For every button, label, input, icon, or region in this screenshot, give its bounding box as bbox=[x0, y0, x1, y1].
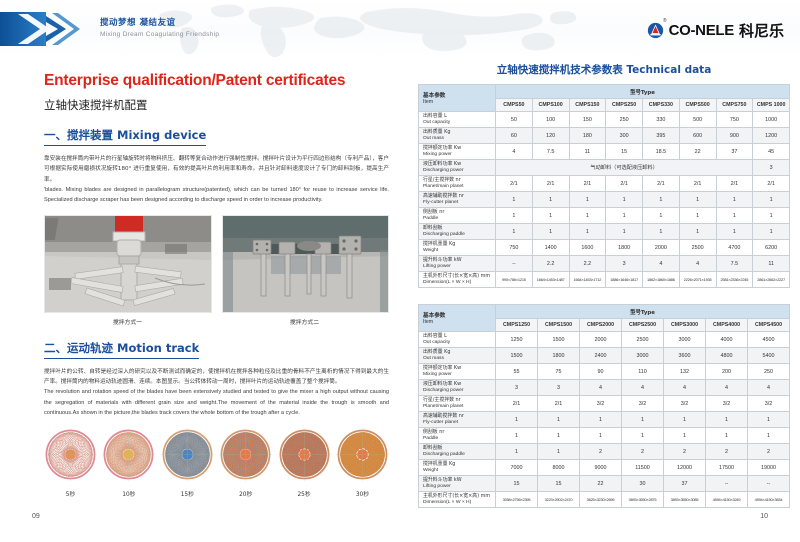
model-header: CMPS4000 bbox=[706, 319, 748, 332]
model-header: CMPS 1000 bbox=[753, 99, 790, 112]
table-cell: 15 bbox=[496, 476, 538, 492]
table-cell: 1 bbox=[569, 192, 606, 208]
model-header: CMPS750 bbox=[716, 99, 753, 112]
table-cell: 2400 bbox=[580, 348, 622, 364]
table-cell: 1000 bbox=[753, 112, 790, 128]
table-header-row: 基本参数Item型号Type bbox=[419, 85, 790, 99]
table-cell: 750 bbox=[496, 240, 533, 256]
table-cell: 1 bbox=[679, 224, 716, 240]
table-cell: 1 bbox=[569, 224, 606, 240]
table-cell: 1 bbox=[643, 224, 680, 240]
table-cell: 2/1 bbox=[643, 176, 680, 192]
table-cell: 4 bbox=[580, 380, 622, 396]
table-cell: 5400 bbox=[748, 348, 790, 364]
table-cell: 1 bbox=[532, 208, 569, 224]
table-cell: 1 bbox=[643, 192, 680, 208]
model-header: CMPS500 bbox=[679, 99, 716, 112]
table2-head: 基本参数Item型号TypeCMPS1250CMPS1500CMPS2000CM… bbox=[419, 305, 790, 332]
table2-body: 出料容量 LOut capacity1250150020002500300040… bbox=[419, 332, 790, 508]
table-cell: 2/1 bbox=[496, 396, 538, 412]
page-number-left: 09 bbox=[32, 513, 40, 520]
motion-track-paragraph-en: The revolution and rotation speed of the… bbox=[44, 387, 389, 418]
table-row-label: 高速辅助搅拌数 nrFly-cutter planet bbox=[419, 192, 496, 208]
table-cell: 2/1 bbox=[538, 396, 580, 412]
mixing-shafts-photo bbox=[222, 215, 390, 313]
model-header: CMPS4500 bbox=[748, 319, 790, 332]
table-cell: 1200 bbox=[753, 128, 790, 144]
mixing-blade-photo bbox=[44, 215, 212, 313]
table-cell: 1886×1646×1817 bbox=[606, 272, 643, 288]
table-row-label: 液压卸料功率 KwDischarging power bbox=[419, 160, 496, 176]
table-cell: 1 bbox=[706, 412, 748, 428]
table-row-label: 出料质量 KgOut mass bbox=[419, 348, 496, 364]
table-cell: 3600 bbox=[664, 348, 706, 364]
table-row: 提升料斗功率 kWLifting power1515223037---- bbox=[419, 476, 790, 492]
motion-track-label: 15秒 bbox=[161, 489, 214, 498]
table-cell: 2 bbox=[622, 444, 664, 460]
table-row: 搅拌额定功率 KwMixing power47.5111518.5223745 bbox=[419, 144, 790, 160]
table-cell: 2/1 bbox=[532, 176, 569, 192]
type-header: 型号Type bbox=[496, 305, 790, 319]
table-cell: 1862×1860×1886 bbox=[643, 272, 680, 288]
table-row: 出料容量 LOut capacity1250150020002500300040… bbox=[419, 332, 790, 348]
table-row-label: 搅拌额定功率 KwMixing power bbox=[419, 144, 496, 160]
brand-name-cn: 科尼乐 bbox=[739, 20, 784, 41]
table-cell: 1 bbox=[748, 412, 790, 428]
table-cell: 1 bbox=[606, 224, 643, 240]
motion-track-label: 25秒 bbox=[278, 489, 331, 498]
table-cell: 7.5 bbox=[716, 256, 753, 272]
table-cell: 1 bbox=[496, 428, 538, 444]
table-cell: 4 bbox=[496, 144, 533, 160]
table-cell: 12000 bbox=[664, 460, 706, 476]
table-cell: 1800 bbox=[606, 240, 643, 256]
table-cell: 19000 bbox=[748, 460, 790, 476]
table-cell: 3625×3230×2695 bbox=[580, 492, 622, 508]
table-row: 提升料斗功率 kWLifting power--2.22.23447.511 bbox=[419, 256, 790, 272]
table-header-row: 基本参数Item型号Type bbox=[419, 305, 790, 319]
motion-track-svg bbox=[219, 428, 272, 481]
type-header: 型号Type bbox=[496, 85, 790, 99]
page-number-right: 10 bbox=[760, 513, 768, 520]
model-header: CMPS2500 bbox=[622, 319, 664, 332]
table-cell: 2 bbox=[580, 444, 622, 460]
table-row-label: 出料容量 LOut capacity bbox=[419, 112, 496, 128]
table-row: 出料容量 LOut capacity5010015025033050075010… bbox=[419, 112, 790, 128]
table-cell: 3/2 bbox=[580, 396, 622, 412]
table-row-label: 出料质量 KgOut mass bbox=[419, 128, 496, 144]
table-cell: 2/1 bbox=[679, 176, 716, 192]
table-cell: 395 bbox=[643, 128, 680, 144]
item-header: 基本参数Item bbox=[419, 305, 496, 332]
motion-track-label: 5秒 bbox=[44, 489, 97, 498]
brand-name-en: CO-NELE bbox=[669, 22, 734, 39]
table-cell: 7.5 bbox=[532, 144, 569, 160]
table-cell: 2581×2336×2245 bbox=[716, 272, 753, 288]
technical-data-table-2: 基本参数Item型号TypeCMPS1250CMPS1500CMPS2000CM… bbox=[418, 304, 790, 508]
table-cell: 60 bbox=[496, 128, 533, 144]
table-cell: 3000 bbox=[622, 348, 664, 364]
table-cell: 180 bbox=[569, 128, 606, 144]
table-row-label: 搅拌额定功率 KwMixing power bbox=[419, 364, 496, 380]
motion-track-label: 10秒 bbox=[102, 489, 155, 498]
table-cell: 55 bbox=[496, 364, 538, 380]
photo-captions: 搅拌方式一 搅拌方式二 bbox=[44, 317, 389, 326]
table-row-label: 提升料斗功率 kWLifting power bbox=[419, 256, 496, 272]
table-row-label: 搅拌机重量 KgWeight bbox=[419, 460, 496, 476]
table-cell: 1 bbox=[679, 208, 716, 224]
chevron-logo bbox=[0, 12, 92, 46]
photo-caption-1: 搅拌方式一 bbox=[44, 317, 211, 326]
table-row: 侧刮板 nrPaddle11111111 bbox=[419, 208, 790, 224]
table-row: 主机外形尺寸(长×宽×高) mmDimension(L × W × H)3058… bbox=[419, 492, 790, 508]
table-cell: 8000 bbox=[538, 460, 580, 476]
table-cell: 330 bbox=[643, 112, 680, 128]
table-cell: 1 bbox=[664, 412, 706, 428]
table-cell: 600 bbox=[679, 128, 716, 144]
table-row: 液压卸料功率 KwDischarging power3344444 bbox=[419, 380, 790, 396]
table-cell: 900 bbox=[716, 128, 753, 144]
table-cell: 1800 bbox=[538, 348, 580, 364]
table-row-label: 卸料刮板Discharging paddle bbox=[419, 224, 496, 240]
table-row-label: 高速辅助搅拌数 nrFly-cutter planet bbox=[419, 412, 496, 428]
table-row: 卸料刮板Discharging paddle1122222 bbox=[419, 444, 790, 460]
table-cell: 250 bbox=[748, 364, 790, 380]
table-cell: 3000 bbox=[664, 332, 706, 348]
table-cell: 1600 bbox=[569, 240, 606, 256]
table-cell: 1 bbox=[679, 192, 716, 208]
table-cell: 300 bbox=[606, 128, 643, 144]
table-cell: 22 bbox=[580, 476, 622, 492]
table-cell: 1 bbox=[580, 428, 622, 444]
model-header: CMPS1500 bbox=[538, 319, 580, 332]
left-column: Enterprise qualification/Patent certific… bbox=[44, 72, 389, 498]
motion-track-svg bbox=[44, 428, 97, 481]
table-row: 侧刮板 nrPaddle1111111 bbox=[419, 428, 790, 444]
table-cell: 4 bbox=[664, 380, 706, 396]
table-cell: 132 bbox=[664, 364, 706, 380]
table-row: 高速辅助搅拌数 nrFly-cutter planet11111111 bbox=[419, 192, 790, 208]
table-cell: 1 bbox=[753, 192, 790, 208]
table-cell: 4594×4150×3249 bbox=[706, 492, 748, 508]
motion-track-label: 20秒 bbox=[219, 489, 272, 498]
table-cell: 1 bbox=[496, 412, 538, 428]
table-row-label: 搅拌机重量 KgWeight bbox=[419, 240, 496, 256]
table-cell: 1 bbox=[496, 444, 538, 460]
table-row-label: 提升料斗功率 kWLifting power bbox=[419, 476, 496, 492]
motion-track-item: 10秒 bbox=[102, 428, 155, 498]
table-cell: 2500 bbox=[679, 240, 716, 256]
table-cell: 110 bbox=[622, 364, 664, 380]
motion-track-item: 20秒 bbox=[219, 428, 272, 498]
trademark-symbol: ® bbox=[663, 18, 667, 24]
table-cell: 2/1 bbox=[606, 176, 643, 192]
item-header: 基本参数Item bbox=[419, 85, 496, 112]
table-cell: 4 bbox=[679, 256, 716, 272]
table-cell: 990×786×1215 bbox=[496, 272, 533, 288]
table-cell: 3893×3550×2875 bbox=[622, 492, 664, 508]
table-cell: 1 bbox=[753, 224, 790, 240]
table-cell: 200 bbox=[706, 364, 748, 380]
table-cell: 4 bbox=[748, 380, 790, 396]
motion-track-item: 15秒 bbox=[161, 428, 214, 498]
motion-track-svg bbox=[278, 428, 331, 481]
table-cell: 1 bbox=[496, 192, 533, 208]
table-row-label: 出料容量 LOut capacity bbox=[419, 332, 496, 348]
table-row-label: 侧刮板 nrPaddle bbox=[419, 428, 496, 444]
table-cell: 2.2 bbox=[569, 256, 606, 272]
table-row: 搅拌机重量 KgWeight70008000900011500120001750… bbox=[419, 460, 790, 476]
table-row: 主机外形尺寸(长×宽×高) mmDimension(L × W × H)990×… bbox=[419, 272, 790, 288]
model-header: CMPS250 bbox=[606, 99, 643, 112]
table-row: 行星/主搅拌数 nrPlanet/main planet2/12/13/23/2… bbox=[419, 396, 790, 412]
table-cell: 17500 bbox=[706, 460, 748, 476]
table-row: 液压卸料功率 KwDischarging power气动卸料（可选配液压卸料）3 bbox=[419, 160, 790, 176]
table-cell: 2/1 bbox=[496, 176, 533, 192]
model-header: CMPS2000 bbox=[580, 319, 622, 332]
table-cell: 3/2 bbox=[706, 396, 748, 412]
table-cell: 2000 bbox=[580, 332, 622, 348]
table-row: 出料质量 KgOut mass601201803003956009001200 bbox=[419, 128, 790, 144]
mixing-device-paragraph-cn: 靠安装在搅拌筒内带叶片的行星轴旋转时将物料挤压、翻转等复合动作进行强制性搅拌。搅… bbox=[44, 154, 389, 185]
table-row: 搅拌额定功率 KwMixing power557590110132200250 bbox=[419, 364, 790, 380]
table-cell: 90 bbox=[580, 364, 622, 380]
table-cell: 9000 bbox=[580, 460, 622, 476]
table-row: 高速辅助搅拌数 nrFly-cutter planet1111111 bbox=[419, 412, 790, 428]
table1-body: 出料容量 LOut capacity5010015025033050075010… bbox=[419, 112, 790, 288]
table-cell: 4594×4150×3634 bbox=[748, 492, 790, 508]
table-cell: 3/2 bbox=[664, 396, 706, 412]
table-cell: 1 bbox=[496, 224, 533, 240]
table-cell: 2/1 bbox=[569, 176, 606, 192]
model-header: CMPS50 bbox=[496, 99, 533, 112]
table-cell: 1664×1453×1712 bbox=[569, 272, 606, 288]
table-cell: 1 bbox=[716, 224, 753, 240]
table-cell: 1 bbox=[569, 208, 606, 224]
table-cell: 1 bbox=[748, 428, 790, 444]
table-cell: 1 bbox=[538, 428, 580, 444]
page-title-en: Enterprise qualification/Patent certific… bbox=[44, 72, 389, 90]
table-cell: 11 bbox=[753, 256, 790, 272]
table-cell: 1 bbox=[496, 208, 533, 224]
table-cell: 50 bbox=[496, 112, 533, 128]
table-cell: 45 bbox=[753, 144, 790, 160]
table-cell: 4 bbox=[643, 256, 680, 272]
table-cell: 1664×1453×1487 bbox=[532, 272, 569, 288]
model-header: CMPS3000 bbox=[664, 319, 706, 332]
table-cell: 37 bbox=[664, 476, 706, 492]
table-cell: 1 bbox=[622, 428, 664, 444]
table-cell: 6200 bbox=[753, 240, 790, 256]
table-cell: 3 bbox=[606, 256, 643, 272]
motion-track-svg bbox=[336, 428, 389, 481]
table-cell: 120 bbox=[532, 128, 569, 144]
table-cell: 2.2 bbox=[532, 256, 569, 272]
table-cell: 3 bbox=[496, 380, 538, 396]
right-column: 立轴快速搅拌机技术参数表 Technical data 基本参数Item型号Ty… bbox=[418, 62, 790, 508]
technical-data-table-1: 基本参数Item型号TypeCMPS50CMPS100CMPS150CMPS25… bbox=[418, 84, 790, 288]
table-row: 卸料刮板Discharging paddle11111111 bbox=[419, 224, 790, 240]
model-header: CMPS100 bbox=[532, 99, 569, 112]
motion-track-svg bbox=[102, 428, 155, 481]
discharging-power-merged: 气动卸料（可选配液压卸料） bbox=[496, 160, 753, 176]
table-cell: 1 bbox=[716, 192, 753, 208]
table-cell: -- bbox=[496, 256, 533, 272]
table-cell: 1500 bbox=[538, 332, 580, 348]
table-cell: 11500 bbox=[622, 460, 664, 476]
technical-data-title: 立轴快速搅拌机技术参数表 Technical data bbox=[418, 62, 790, 77]
table-cell: 1 bbox=[580, 412, 622, 428]
table-cell: 2861×2662×2227 bbox=[753, 272, 790, 288]
table-cell: 15 bbox=[538, 476, 580, 492]
motion-track-item: 5秒 bbox=[44, 428, 97, 498]
table-cell: 37 bbox=[716, 144, 753, 160]
table-cell: 100 bbox=[532, 112, 569, 128]
table-cell: 3/2 bbox=[622, 396, 664, 412]
table-cell: -- bbox=[706, 476, 748, 492]
table-row-label: 主机外形尺寸(长×宽×高) mmDimension(L × W × H) bbox=[419, 492, 496, 508]
table-cell: 2000 bbox=[643, 240, 680, 256]
table-cell: 75 bbox=[538, 364, 580, 380]
table-cell: 3 bbox=[753, 160, 790, 176]
table-row: 出料质量 KgOut mass1500180024003000360048005… bbox=[419, 348, 790, 364]
motion-track-diagrams: 5秒10秒15秒20秒25秒30秒 bbox=[44, 428, 389, 498]
table-cell: 4800 bbox=[706, 348, 748, 364]
table-spacer bbox=[418, 288, 790, 304]
table-cell: 4000 bbox=[706, 332, 748, 348]
motion-track-item: 30秒 bbox=[336, 428, 389, 498]
table-cell: 18.5 bbox=[643, 144, 680, 160]
slogan-block: 搅动梦想 凝结友谊 Mixing Dream Coagulating Frien… bbox=[100, 18, 219, 39]
conele-emblem-icon: ® bbox=[647, 22, 664, 39]
table-cell: 1 bbox=[606, 192, 643, 208]
table-cell: 1 bbox=[538, 412, 580, 428]
table-cell: 30 bbox=[622, 476, 664, 492]
page-title-cn: 立轴快速搅拌机配置 bbox=[44, 97, 389, 113]
table-cell: 2500 bbox=[622, 332, 664, 348]
table-cell: 3223×2902×2470 bbox=[538, 492, 580, 508]
table-cell: 4700 bbox=[716, 240, 753, 256]
table-cell: -- bbox=[748, 476, 790, 492]
motion-track-svg bbox=[161, 428, 214, 481]
table-cell: 1 bbox=[664, 428, 706, 444]
table-row-label: 行星/主搅拌数 nrPlanet/main planet bbox=[419, 176, 496, 192]
table-row-label: 主机外形尺寸(长×宽×高) mmDimension(L × W × H) bbox=[419, 272, 496, 288]
table-cell: 22 bbox=[679, 144, 716, 160]
table-cell: 15 bbox=[606, 144, 643, 160]
table-cell: 2/1 bbox=[753, 176, 790, 192]
table-cell: 750 bbox=[716, 112, 753, 128]
table-cell: 3/2 bbox=[748, 396, 790, 412]
table-cell: 3058×2756×2395 bbox=[496, 492, 538, 508]
table-cell: 2 bbox=[706, 444, 748, 460]
motion-track-item: 25秒 bbox=[278, 428, 331, 498]
table1-head: 基本参数Item型号TypeCMPS50CMPS100CMPS150CMPS25… bbox=[419, 85, 790, 112]
table-cell: 1500 bbox=[496, 348, 538, 364]
brand-logo: ® CO-NELE 科尼乐 bbox=[647, 20, 784, 41]
table-row: 行星/主搅拌数 nrPlanet/main planet2/12/12/12/1… bbox=[419, 176, 790, 192]
section-heading-mixing-device: 一、搅拌装置 Mixing device bbox=[44, 127, 206, 146]
motion-track-paragraph-cn: 搅拌叶片的公转、自转是经过深入的研究以及不断测试而确定的，使搅拌机在搅拌各种粒径… bbox=[44, 367, 389, 388]
table-cell: 11 bbox=[569, 144, 606, 160]
table-cell: 1 bbox=[532, 224, 569, 240]
table-cell: 4 bbox=[622, 380, 664, 396]
table-cell: 4 bbox=[706, 380, 748, 396]
table-cell: 2 bbox=[748, 444, 790, 460]
table-row: 搅拌机重量 KgWeight75014001600180020002500470… bbox=[419, 240, 790, 256]
table-cell: 3 bbox=[538, 380, 580, 396]
table-row-label: 行星/主搅拌数 nrPlanet/main planet bbox=[419, 396, 496, 412]
table-cell: 1 bbox=[606, 208, 643, 224]
slogan-cn: 搅动梦想 凝结友谊 bbox=[100, 18, 219, 29]
table-row-label: 卸料刮板Discharging paddle bbox=[419, 444, 496, 460]
table-cell: 2226×2071×1935 bbox=[679, 272, 716, 288]
table-cell: 3893×3550×3085 bbox=[664, 492, 706, 508]
section-heading-motion-track: 二、运动轨迹 Motion track bbox=[44, 340, 199, 359]
table-cell: 7000 bbox=[496, 460, 538, 476]
mixing-device-paragraph-en: 'blades. Mixing blades are designed in p… bbox=[44, 185, 389, 206]
table-cell: 1250 bbox=[496, 332, 538, 348]
model-header: CMPS1250 bbox=[496, 319, 538, 332]
table-cell: 1 bbox=[716, 208, 753, 224]
model-header: CMPS330 bbox=[643, 99, 680, 112]
model-header: CMPS150 bbox=[569, 99, 606, 112]
table-cell: 1 bbox=[622, 412, 664, 428]
page-header: 搅动梦想 凝结友谊 Mixing Dream Coagulating Frien… bbox=[0, 0, 800, 58]
table-cell: 250 bbox=[606, 112, 643, 128]
table-cell: 1400 bbox=[532, 240, 569, 256]
slogan-en: Mixing Dream Coagulating Friendship bbox=[100, 31, 219, 39]
table-cell: 1 bbox=[706, 428, 748, 444]
mixing-photos bbox=[44, 215, 389, 313]
table-cell: 4500 bbox=[748, 332, 790, 348]
table-cell: 500 bbox=[679, 112, 716, 128]
table-cell: 1 bbox=[532, 192, 569, 208]
table-cell: 1 bbox=[643, 208, 680, 224]
table-cell: 1 bbox=[753, 208, 790, 224]
motion-track-label: 30秒 bbox=[336, 489, 389, 498]
table-cell: 1 bbox=[538, 444, 580, 460]
table-cell: 150 bbox=[569, 112, 606, 128]
table-row-label: 侧刮板 nrPaddle bbox=[419, 208, 496, 224]
table-row-label: 液压卸料功率 KwDischarging power bbox=[419, 380, 496, 396]
table-cell: 2 bbox=[664, 444, 706, 460]
photo-caption-2: 搅拌方式二 bbox=[221, 317, 388, 326]
table-cell: 2/1 bbox=[716, 176, 753, 192]
